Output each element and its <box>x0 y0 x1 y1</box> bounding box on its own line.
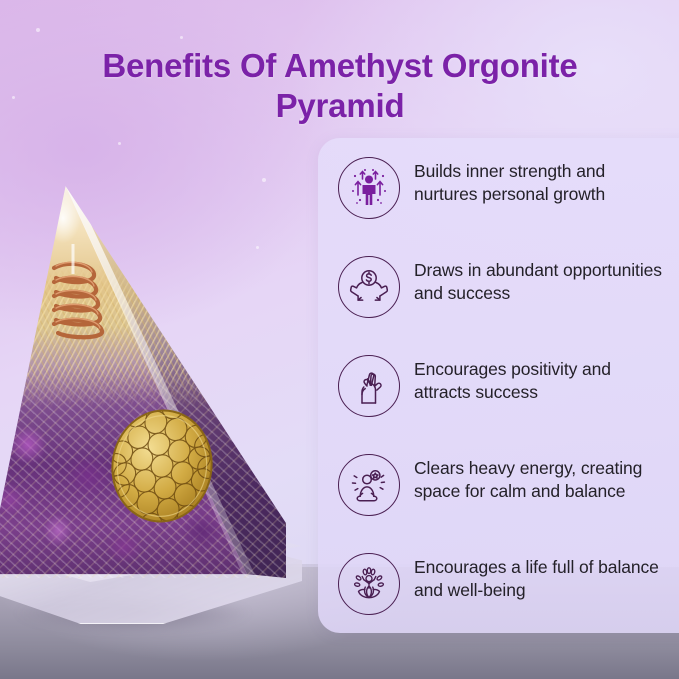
benefit-text: Clears heavy energy, creating space for … <box>414 451 666 502</box>
benefit-text: Encourages positivity and attracts succe… <box>414 352 666 403</box>
page-title: Benefits Of Amethyst Orgonite Pyramid <box>40 46 640 126</box>
benefit-item[interactable]: Clears heavy energy, creating space for … <box>318 451 679 550</box>
flower-of-life-medallion-icon <box>101 397 223 534</box>
sparkle-dot <box>36 28 40 32</box>
hands-holding-coin-icon <box>338 256 400 318</box>
crossed-fingers-icon <box>338 355 400 417</box>
sparkle-dot <box>180 36 183 39</box>
meditating-person-icon <box>338 454 400 516</box>
benefit-text: Encourages a life full of balance and we… <box>414 550 666 601</box>
benefit-item[interactable]: Encourages a life full of balance and we… <box>318 550 679 649</box>
person-growth-arrows-icon <box>338 157 400 219</box>
benefit-item[interactable]: Encourages positivity and attracts succe… <box>318 352 679 451</box>
lotus-person-icon <box>338 553 400 615</box>
benefit-text: Builds inner strength and nurtures perso… <box>414 154 666 205</box>
benefit-item[interactable]: Builds inner strength and nurtures perso… <box>318 154 679 253</box>
benefits-panel: Builds inner strength and nurtures perso… <box>318 138 679 633</box>
benefit-text: Draws in abundant opportunities and succ… <box>414 253 666 304</box>
sparkle-dot <box>262 178 266 182</box>
copper-coil-icon <box>34 244 112 348</box>
product-image-amethyst-orgonite-pyramid <box>0 186 326 656</box>
sparkle-dot <box>118 142 121 145</box>
benefit-item[interactable]: Draws in abundant opportunities and succ… <box>318 253 679 352</box>
sparkle-dot <box>12 96 15 99</box>
infographic-canvas: Benefits Of Amethyst Orgonite Pyramid <box>0 0 679 679</box>
